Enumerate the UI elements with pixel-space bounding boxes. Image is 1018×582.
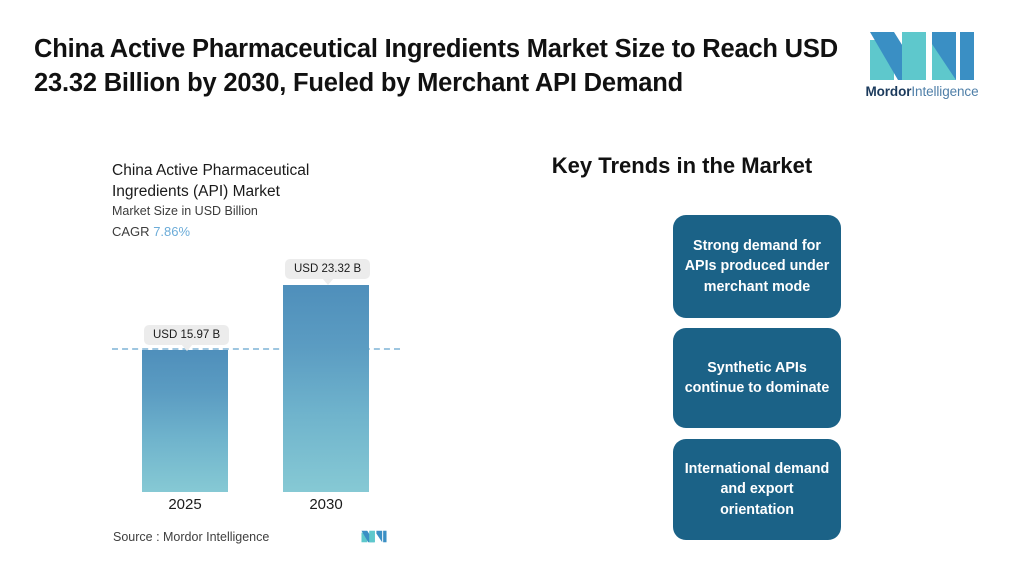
chart-cagr: CAGR 7.86% (112, 224, 190, 239)
bar-value-label-2030: USD 23.32 B (285, 259, 370, 279)
x-axis-tick-2025: 2025 (125, 496, 245, 513)
chart-subtitle: Market Size in USD Billion (112, 204, 258, 218)
brand-name-bold: Mordor (865, 84, 911, 99)
source-label: Source : Mordor Intelligence (113, 530, 269, 544)
trend-card-3: International demand and export orientat… (673, 439, 841, 540)
mordor-intelligence-mini-logo-icon (361, 529, 387, 544)
trend-card-2-text: Synthetic APIs continue to dominate (683, 358, 831, 399)
bar-value-label-2025: USD 15.97 B (144, 325, 229, 345)
trend-card-1: Strong demand for APIs produced under me… (673, 215, 841, 318)
infographic-page: China Active Pharmaceutical Ingredients … (0, 0, 1018, 582)
bar-2025 (142, 350, 228, 492)
brand-logo: MordorIntelligence (862, 30, 982, 99)
trend-card-2: Synthetic APIs continue to dominate (673, 328, 841, 428)
bar-chart: China Active Pharmaceutical Ingredients … (0, 0, 520, 582)
trend-card-3-text: International demand and export orientat… (683, 459, 831, 520)
chart-title: China Active Pharmaceutical Ingredients … (112, 161, 372, 203)
cagr-value: 7.86% (153, 224, 190, 239)
cagr-label: CAGR (112, 224, 150, 239)
chart-source: Source : Mordor Intelligence (113, 529, 387, 544)
bar-2030 (283, 285, 369, 492)
brand-logo-text: MordorIntelligence (862, 84, 982, 99)
key-trends-title: Key Trends in the Market (527, 153, 837, 179)
trend-card-1-text: Strong demand for APIs produced under me… (683, 236, 831, 297)
x-axis-tick-2030: 2030 (266, 496, 386, 513)
mordor-intelligence-logo-icon (868, 30, 976, 82)
brand-name-light: Intelligence (911, 84, 978, 99)
